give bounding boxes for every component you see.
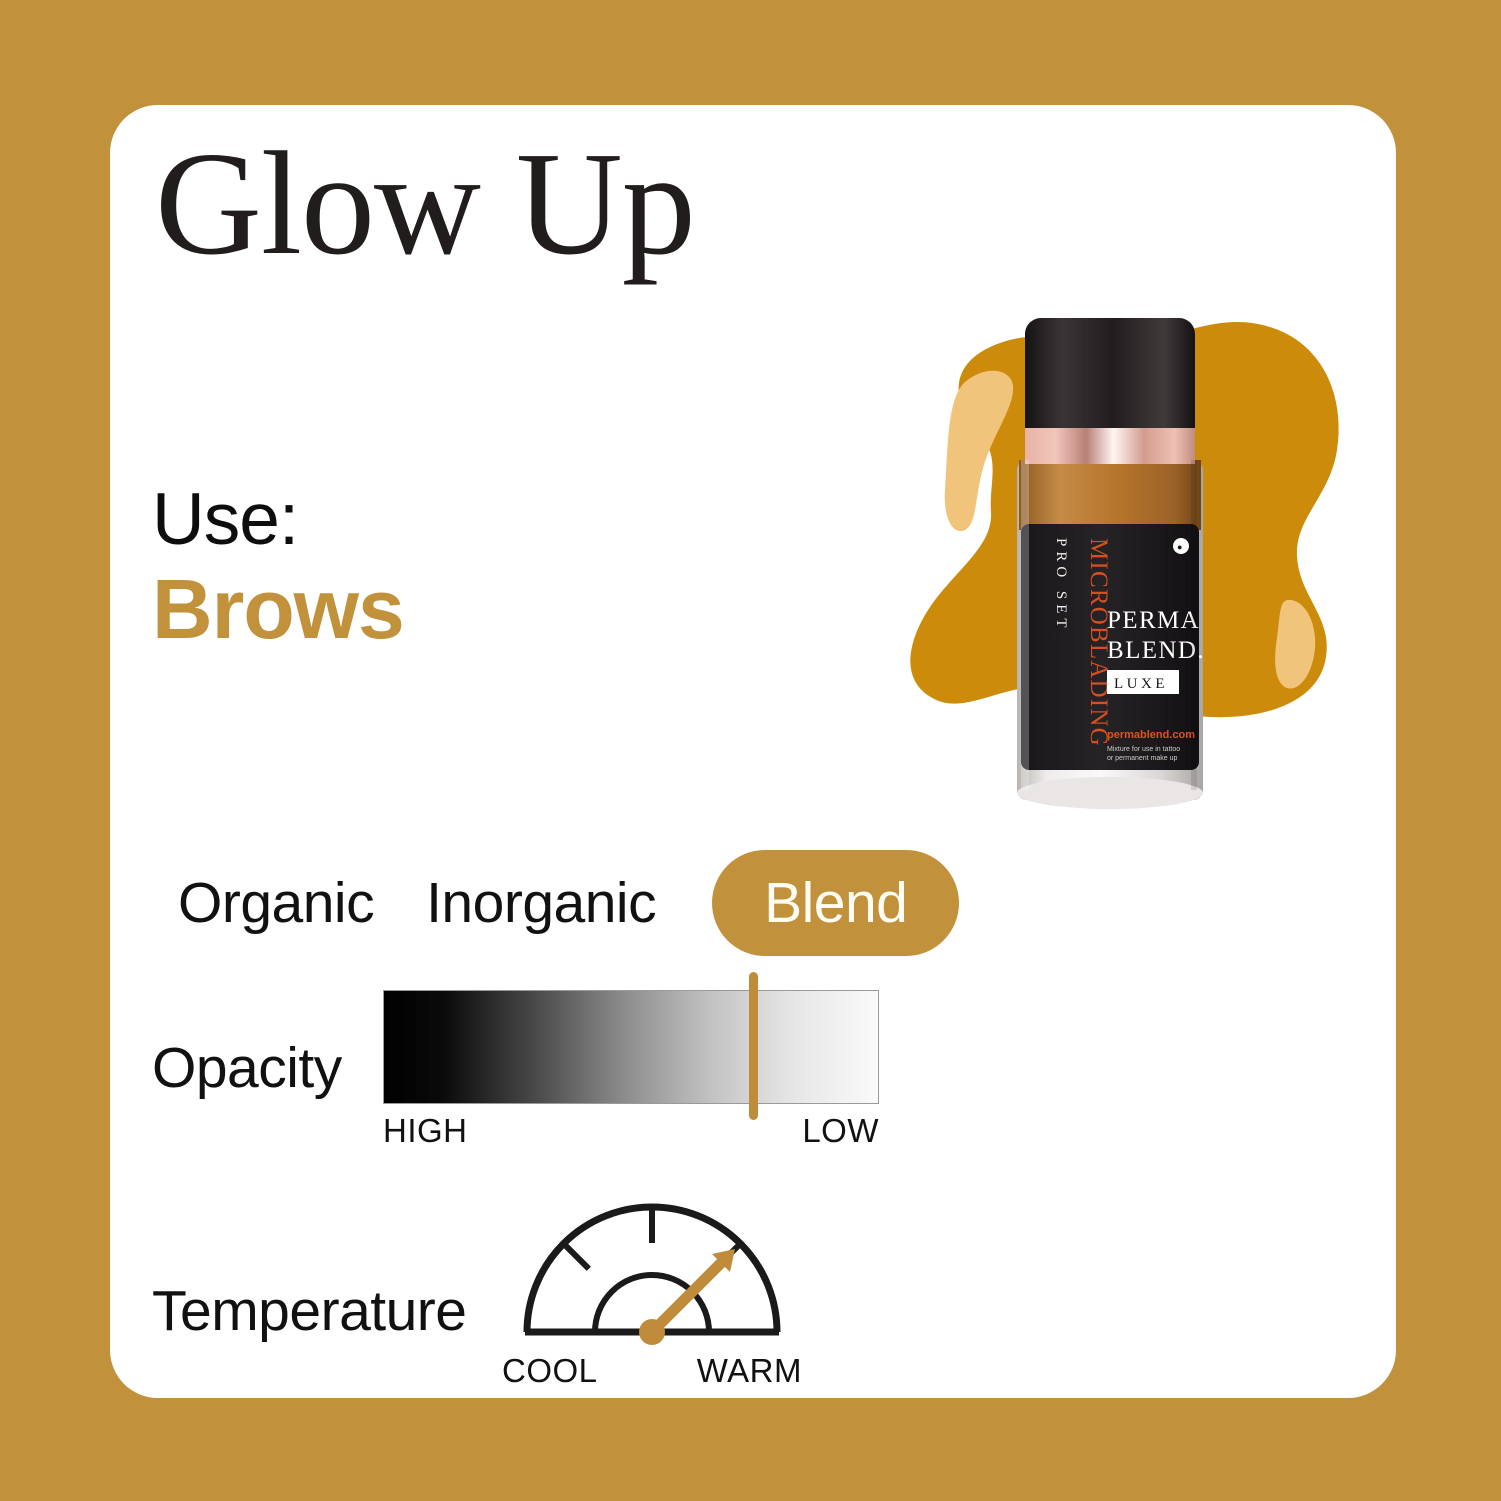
opacity-gradient-bar	[383, 990, 879, 1104]
certification-mark-glyph: ●	[1177, 542, 1182, 552]
opacity-label-high: HIGH	[383, 1112, 468, 1150]
bottle-ink	[1019, 460, 1201, 530]
gauge-needle-hub	[639, 1319, 665, 1345]
composition-option-organic[interactable]: Organic	[152, 870, 400, 936]
temperature-scale-labels: COOL WARM	[502, 1352, 802, 1390]
gauge-needle	[652, 1261, 723, 1332]
bottle-base-ellipse	[1017, 777, 1203, 809]
fine-print-line-2: or permanent make up	[1107, 755, 1178, 762]
temperature-row: Temperature	[152, 1180, 972, 1390]
composition-options: Organic Inorganic Blend	[152, 850, 959, 956]
composition-option-blend[interactable]: Blend	[712, 850, 959, 956]
gauge-svg	[507, 1180, 797, 1345]
opacity-scale-labels: HIGH LOW	[383, 1112, 879, 1150]
product-artwork: MICROBLADING PRO SET PERMA BLEND. LUXE p…	[825, 200, 1385, 820]
bottle-cap-lower	[1025, 370, 1195, 432]
product-website: permablend.com	[1107, 729, 1195, 741]
bottle-collar	[1025, 428, 1195, 464]
opacity-label: Opacity	[152, 1035, 342, 1101]
opacity-row: Opacity HIGH LOW	[152, 990, 972, 1170]
use-block: Use: Brows	[152, 483, 404, 654]
opacity-marker[interactable]	[749, 972, 758, 1120]
fine-print-line-1: Mixture for use in tattoo	[1107, 746, 1180, 753]
composition-option-inorganic[interactable]: Inorganic	[400, 870, 682, 936]
brand-name-line-2: BLEND.	[1107, 637, 1205, 664]
temperature-label-cool: COOL	[502, 1352, 598, 1390]
tier-badge-label: LUXE	[1114, 676, 1168, 692]
glass-highlight-left	[1021, 460, 1029, 790]
product-bottle: MICROBLADING PRO SET PERMA BLEND. LUXE p…	[995, 310, 1225, 810]
label-vertical-secondary: PRO SET	[1053, 538, 1069, 633]
product-card: Glow Up Use: Brows Organic Inorganic Ble…	[110, 105, 1396, 1398]
temperature-gauge	[507, 1180, 797, 1345]
opacity-scale-bar	[383, 990, 879, 1104]
page-title: Glow Up	[155, 125, 695, 285]
use-value: Brows	[152, 565, 404, 654]
gauge-tick-cool	[564, 1244, 589, 1269]
use-label: Use:	[152, 483, 404, 557]
temperature-label: Temperature	[152, 1278, 467, 1344]
temperature-label-warm: WARM	[697, 1352, 802, 1390]
glass-highlight-right	[1191, 460, 1197, 790]
brand-name-line-1: PERMA	[1107, 607, 1200, 634]
opacity-label-low: LOW	[802, 1112, 879, 1150]
infographic-canvas: Glow Up Use: Brows Organic Inorganic Ble…	[0, 0, 1501, 1501]
